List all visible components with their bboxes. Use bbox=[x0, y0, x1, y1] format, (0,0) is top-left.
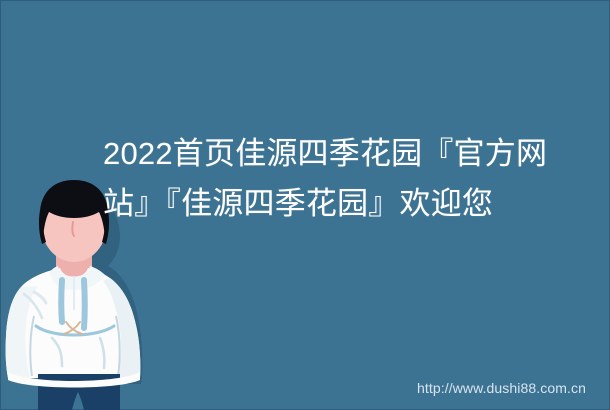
promo-banner: 2022首页佳源四季花园『官方网站』『佳源四季花园』欢迎您 http://www… bbox=[0, 0, 610, 410]
banner-headline: 2022首页佳源四季花园『官方网站』『佳源四季花园』欢迎您 bbox=[103, 129, 565, 229]
site-url-watermark: http://www.dushi88.com.cn bbox=[417, 379, 586, 397]
